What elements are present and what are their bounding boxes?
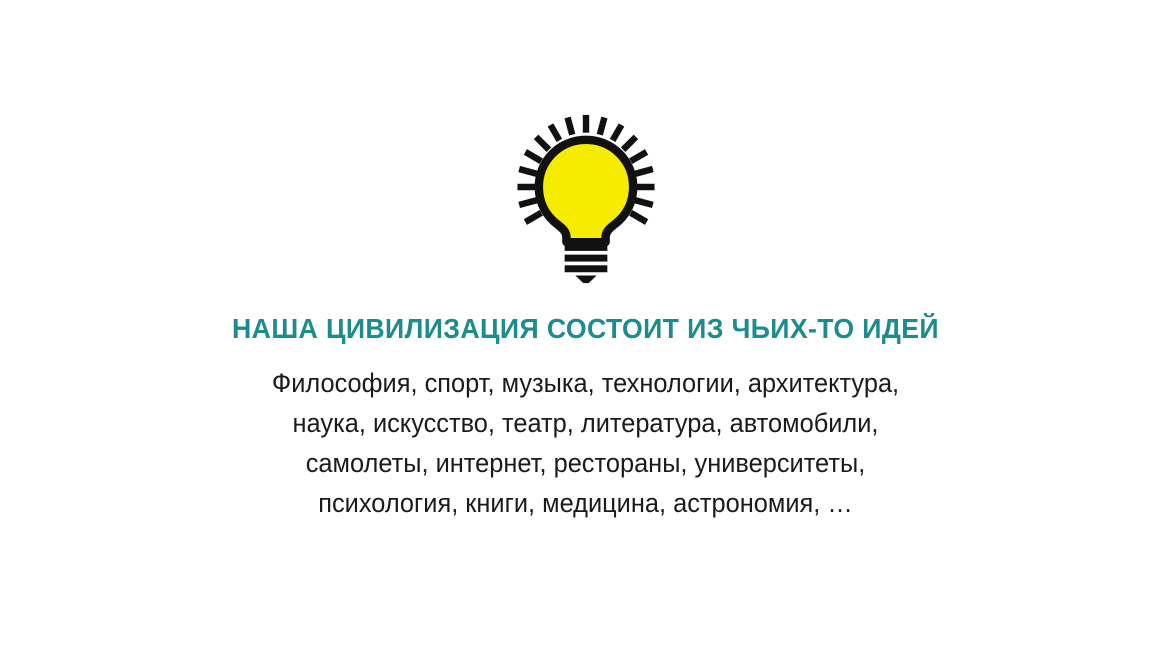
ray-icon-10 (567, 117, 572, 134)
ray-icon-9 (630, 213, 646, 222)
ray-icon-11 (550, 125, 559, 140)
ray-icon-8 (635, 200, 652, 205)
body-line-4: психология, книги, медицина, астрономия,… (35, 483, 1136, 523)
base-band-icon-1 (564, 244, 607, 251)
ray-icon-12 (536, 137, 549, 150)
ray-icon-13 (525, 152, 541, 161)
body-paragraph: Философия, спорт, музыка, технологии, ар… (0, 363, 1171, 523)
ray-icon-3 (612, 125, 621, 140)
base-band-icon-2 (564, 255, 607, 262)
ray-icon-16 (519, 200, 536, 205)
slide-canvas: НАША ЦИВИЛИЗАЦИЯ СОСТОИТ ИЗ ЧЬИХ-ТО ИДЕЙ… (0, 0, 1171, 659)
base-tip-icon (575, 276, 596, 284)
body-line-3: самолеты, интернет, рестораны, университ… (35, 443, 1136, 483)
bulb-base-group (564, 244, 607, 283)
ray-icon-6 (635, 169, 652, 174)
ray-icon-17 (525, 213, 541, 222)
body-line-1: Философия, спорт, музыка, технологии, ар… (35, 363, 1136, 403)
lightbulb-illustration (0, 106, 1171, 284)
body-line-2: наука, искусство, театр, литература, авт… (35, 403, 1136, 443)
lightbulb-icon (497, 106, 675, 284)
ray-icon-2 (599, 117, 604, 134)
base-band-icon-3 (564, 265, 607, 272)
page-title: НАША ЦИВИЛИЗАЦИЯ СОСТОИТ ИЗ ЧЬИХ-ТО ИДЕЙ (18, 314, 1154, 345)
bulb-glass-icon (538, 140, 632, 242)
ray-icon-5 (630, 152, 646, 161)
ray-icon-14 (519, 169, 536, 174)
ray-icon-4 (623, 137, 636, 150)
